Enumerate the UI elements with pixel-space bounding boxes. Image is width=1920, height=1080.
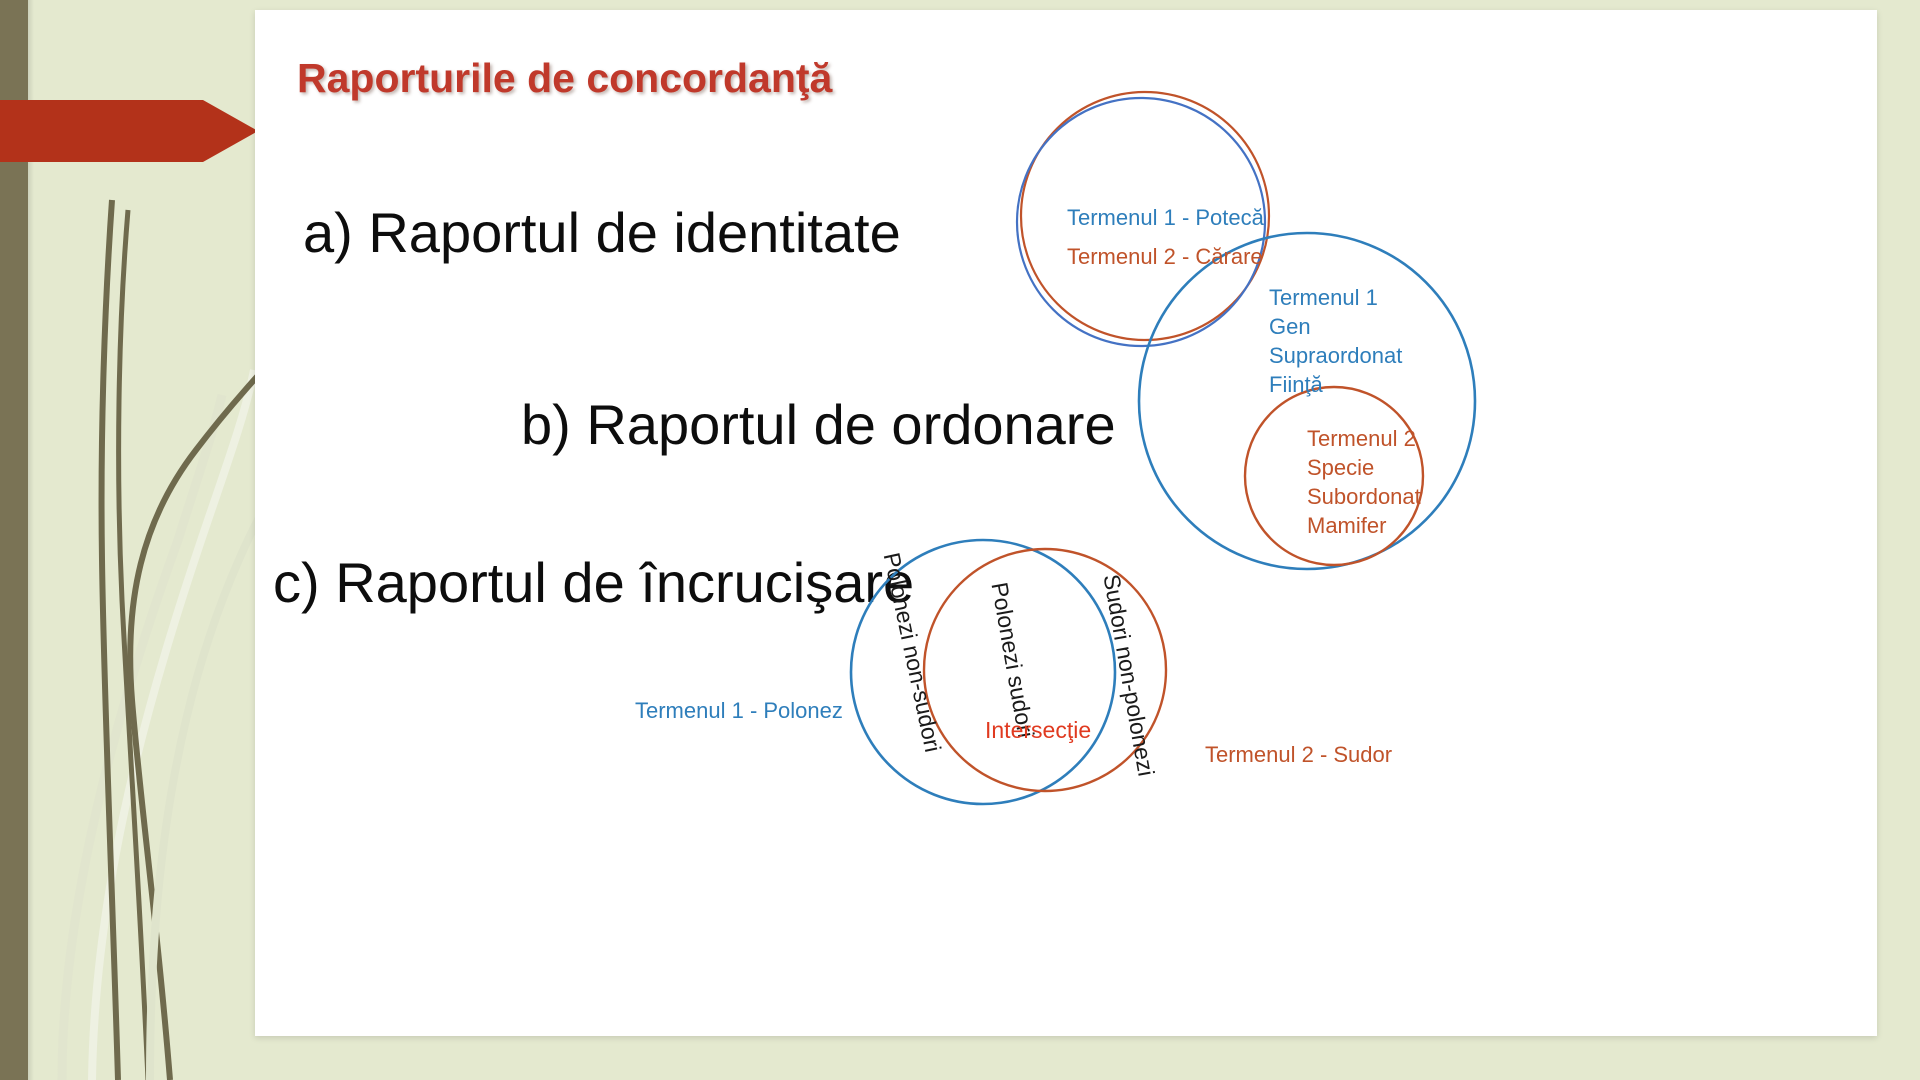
ordering-inner-line-2: Specie [1307,453,1374,482]
ordering-outer-line-2: Gen [1269,312,1311,341]
content-panel: Raporturile de concordanţă a) Raportul d… [255,10,1877,1036]
venn-intersection-label: Intersecţie [985,716,1091,745]
venn-term2-label: Termenul 2 - Sudor [1205,740,1392,769]
ordering-outer-line-3: Supraordonat [1269,341,1402,370]
ordering-inner-line-4: Mamifer [1307,511,1386,540]
ordering-outer-line-1: Termenul 1 [1269,283,1378,312]
ordering-inner-line-3: Subordonat [1307,482,1421,511]
stripe-shadow [28,0,34,1080]
venn-term1-label: Termenul 1 - Polonez [635,696,843,725]
diagram-shapes [255,10,1877,1036]
identity-term2-label: Termenul 2 - Cărare [1067,242,1263,271]
identity-term1-label: Termenul 1 - Potecă [1067,203,1264,232]
ordering-outer-line-4: Fiinţă [1269,370,1323,399]
arrow-banner [0,100,258,162]
ordering-inner-line-1: Termenul 2 [1307,424,1416,453]
olive-stripe [0,0,28,1080]
slide: Raporturile de concordanţă a) Raportul d… [0,0,1920,1080]
